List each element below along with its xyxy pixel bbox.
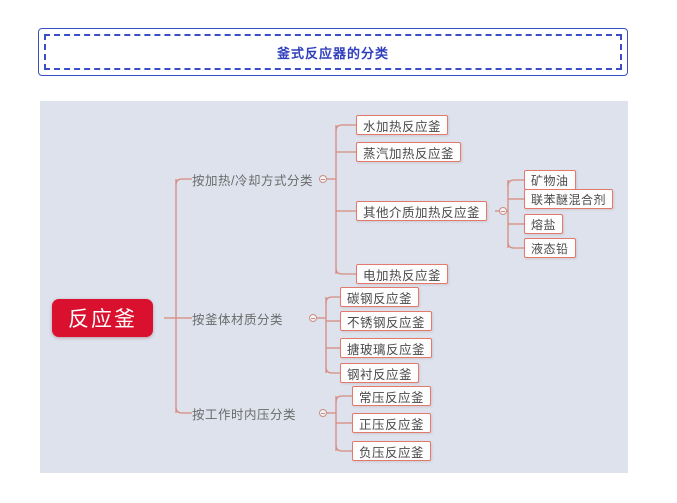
leaf-node-label: 其他介质加热反应釜 xyxy=(363,202,480,221)
leaf-node-label: 正压反应釜 xyxy=(359,414,424,433)
collapse-toggle-icon[interactable] xyxy=(319,175,327,183)
leaf-node-label: 常压反应釜 xyxy=(359,387,424,406)
leaf-node-water-heated[interactable]: 水加热反应釜 xyxy=(356,115,448,135)
branch-node-heating-cooling[interactable]: 按加热/冷却方式分类 xyxy=(192,169,313,189)
leaf-node-label: 碳钢反应釜 xyxy=(347,288,412,307)
branch-node-working-pressure[interactable]: 按工作时内压分类 xyxy=(192,403,296,423)
leaf-node-label: 联苯醚混合剂 xyxy=(531,191,606,208)
leaf-node-atmospheric-pressure[interactable]: 常压反应釜 xyxy=(352,386,431,406)
leaf-node-negative-pressure[interactable]: 负压反应釜 xyxy=(352,441,431,461)
leaf-node-label: 搪玻璃反应釜 xyxy=(347,339,425,358)
leaf-node-label: 水加热反应釜 xyxy=(363,116,441,135)
leaf-node-label: 蒸汽加热反应釜 xyxy=(363,143,454,162)
title-banner: 釜式反应器的分类 xyxy=(38,28,628,76)
leaf-node-label: 负压反应釜 xyxy=(359,442,424,461)
leaf-node-stainless-steel[interactable]: 不锈钢反应釜 xyxy=(340,311,432,331)
collapse-toggle-icon[interactable] xyxy=(499,207,507,215)
leaf-node-label: 熔盐 xyxy=(531,216,556,233)
leaf-node-mineral-oil[interactable]: 矿物油 xyxy=(524,170,576,190)
leaf-node-positive-pressure[interactable]: 正压反应釜 xyxy=(352,413,431,433)
leaf-node-label: 矿物油 xyxy=(531,172,569,189)
leaf-node-other-medium-heated[interactable]: 其他介质加热反应釜 xyxy=(356,201,487,221)
leaf-node-diphenyl-ether-mixture[interactable]: 联苯醚混合剂 xyxy=(524,189,613,209)
leaf-node-label: 钢衬反应釜 xyxy=(347,364,412,383)
leaf-node-label: 不锈钢反应釜 xyxy=(347,312,425,331)
leaf-node-electric-heated[interactable]: 电加热反应釜 xyxy=(356,264,448,284)
collapse-toggle-icon[interactable] xyxy=(319,409,327,417)
root-node-label: 反应釜 xyxy=(68,303,137,333)
collapse-toggle-icon[interactable] xyxy=(309,314,317,322)
leaf-node-steel-lined[interactable]: 钢衬反应釜 xyxy=(340,363,419,383)
leaf-node-molten-salt[interactable]: 熔盐 xyxy=(524,214,563,234)
leaf-node-steam-heated[interactable]: 蒸汽加热反应釜 xyxy=(356,142,461,162)
leaf-node-liquid-lead[interactable]: 液态铅 xyxy=(524,238,576,258)
branch-node-vessel-material[interactable]: 按釜体材质分类 xyxy=(192,308,283,328)
root-node[interactable]: 反应釜 xyxy=(52,299,153,337)
leaf-node-label: 液态铅 xyxy=(531,240,569,257)
mindmap-connectors xyxy=(40,101,628,473)
leaf-node-glass-lined[interactable]: 搪玻璃反应釜 xyxy=(340,338,432,358)
branch-node-label: 按釜体材质分类 xyxy=(192,309,283,328)
mindmap-canvas[interactable]: 反应釜 按加热/冷却方式分类 水加热反应釜 蒸汽加热反应釜 其他介质加热反应釜 … xyxy=(40,101,628,473)
page-title: 釜式反应器的分类 xyxy=(277,43,389,62)
branch-node-label: 按工作时内压分类 xyxy=(192,404,296,423)
leaf-node-carbon-steel[interactable]: 碳钢反应釜 xyxy=(340,287,419,307)
leaf-node-label: 电加热反应釜 xyxy=(363,265,441,284)
title-dashed-frame: 釜式反应器的分类 xyxy=(44,34,622,70)
branch-node-label: 按加热/冷却方式分类 xyxy=(192,170,313,189)
